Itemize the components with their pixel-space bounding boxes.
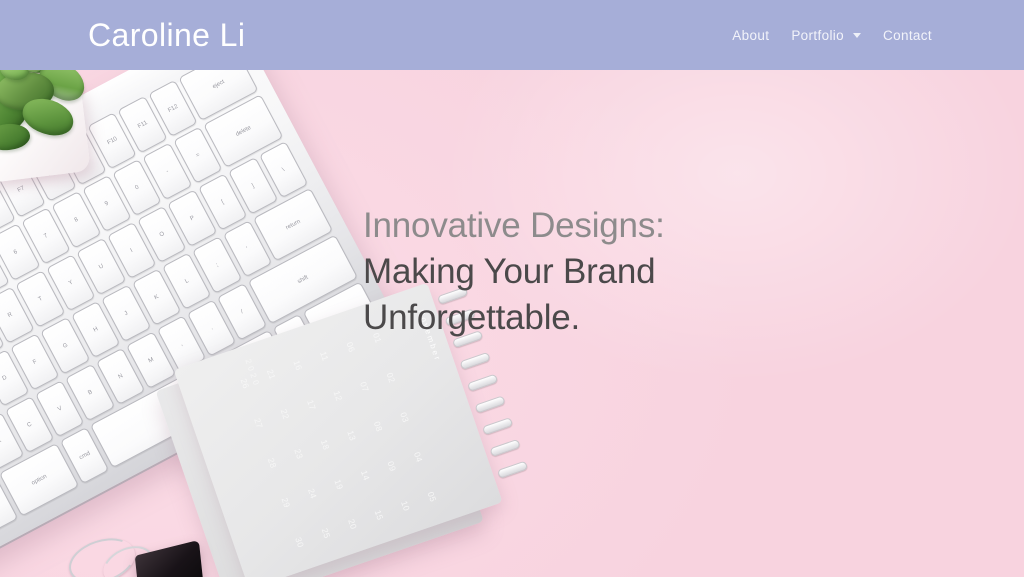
- nav-item-label: Portfolio: [791, 28, 844, 43]
- clip-body: [135, 540, 203, 577]
- nav-item-portfolio[interactable]: Portfolio: [791, 24, 861, 47]
- nav-item-label: Contact: [883, 28, 932, 43]
- spiral-ring: [459, 352, 490, 370]
- spiral-ring: [482, 417, 513, 435]
- nav-item-contact[interactable]: Contact: [883, 24, 932, 47]
- spiral-ring: [467, 374, 498, 392]
- headline-line-2: Making Your Brand: [363, 249, 923, 295]
- main-navigation: About Portfolio Contact: [732, 24, 932, 47]
- spiral-ring: [474, 395, 505, 413]
- site-logo[interactable]: Caroline Li: [88, 19, 245, 51]
- hero-headline: Innovative Designs: Making Your Brand Un…: [363, 203, 923, 341]
- spiral-ring: [497, 461, 528, 479]
- succulent-plant-object: [0, 58, 116, 178]
- nav-item-about[interactable]: About: [732, 24, 769, 47]
- binder-clip-object: [62, 528, 212, 577]
- spiral-ring: [489, 439, 520, 457]
- headline-line-1: Innovative Designs:: [363, 203, 923, 249]
- headline-line-3: Unforgettable.: [363, 295, 923, 341]
- nav-item-label: About: [732, 28, 769, 43]
- site-header: Caroline Li About Portfolio Contact: [0, 0, 1024, 70]
- page-root: escF1F2F3F4F5F6F7F8F9F10F11F12eject~1234…: [0, 0, 1024, 577]
- chevron-down-icon[interactable]: [853, 33, 861, 38]
